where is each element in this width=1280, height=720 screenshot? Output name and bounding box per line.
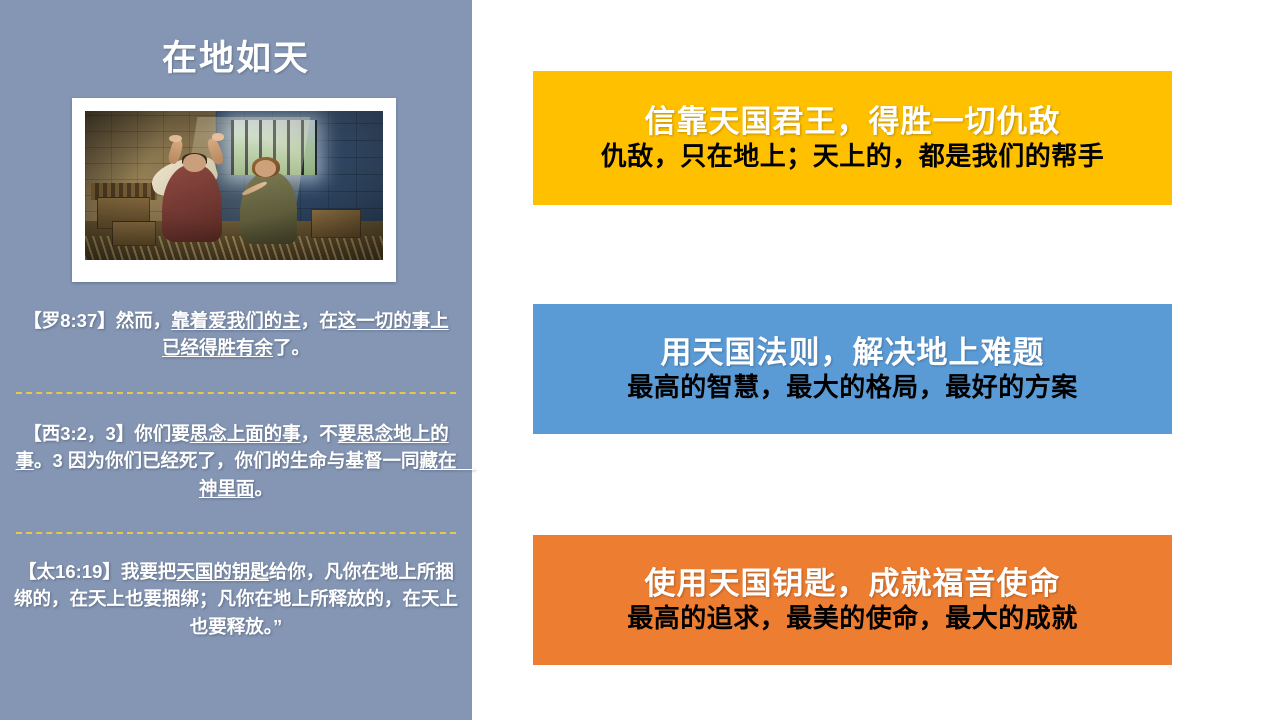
scripture-text: 了。 [273, 337, 310, 358]
scripture-divider [16, 392, 456, 394]
banner-subtitle: 最高的追求，最美的使命，最大的成就 [627, 604, 1078, 634]
picture-frame [72, 98, 396, 282]
scripture-divider [16, 532, 456, 534]
page-title: 在地如天 [0, 40, 472, 79]
scripture-text: ，不 [301, 423, 338, 444]
scripture-text: ，在 [301, 310, 338, 331]
scripture-text: 【罗8:37】然而， [23, 310, 171, 331]
scripture-text: 【西3:2，3】你们要 [23, 423, 190, 444]
banner-title: 使用天国钥匙，成就福音使命 [645, 566, 1061, 602]
banner-subtitle: 仇敌，只在地上；天上的，都是我们的帮手 [601, 142, 1105, 172]
prison-praise-painting [85, 111, 383, 260]
banner-subtitle: 最高的智慧，最大的格局，最好的方案 [627, 373, 1078, 403]
scripture-colossians-3-2-3: 【西3:2，3】你们要思念上面的事，不要思念地上的事。3 因为你们已经死了，你们… [14, 420, 458, 502]
scripture-text: 【太16:19】我要把 [18, 561, 176, 582]
scripture-emphasis: 靠着爱我们的主 [171, 310, 301, 331]
scripture-text: 。 [255, 478, 274, 499]
banner-kingdom-keys: 使用天国钥匙，成就福音使命 最高的追求，最美的使命，最大的成就 [533, 535, 1172, 665]
scripture-emphasis: 思念上面的事 [190, 423, 301, 444]
sidebar-panel: 在地如天 [0, 0, 472, 720]
scripture-emphasis: 天国的钥匙 [176, 561, 269, 582]
banner-kingdom-principles: 用天国法则，解决地上难题 最高的智慧，最大的格局，最好的方案 [533, 304, 1172, 434]
banner-title: 信靠天国君王，得胜一切仇敌 [645, 104, 1061, 140]
banner-title: 用天国法则，解决地上难题 [661, 335, 1045, 371]
banner-trust-king: 信靠天国君王，得胜一切仇敌 仇敌，只在地上；天上的，都是我们的帮手 [533, 71, 1172, 205]
scripture-romans-8-37: 【罗8:37】然而，靠着爱我们的主，在这一切的事上已经得胜有余了。 [14, 307, 458, 362]
painting-vignette [85, 111, 383, 260]
scripture-matthew-16-19: 【太16:19】我要把天国的钥匙给你，凡你在地上所捆绑的，在天上也要捆绑；凡你在… [14, 558, 458, 640]
scripture-text: 。3 因为你们已经死了，你们的生命与基督一同 [34, 450, 419, 471]
